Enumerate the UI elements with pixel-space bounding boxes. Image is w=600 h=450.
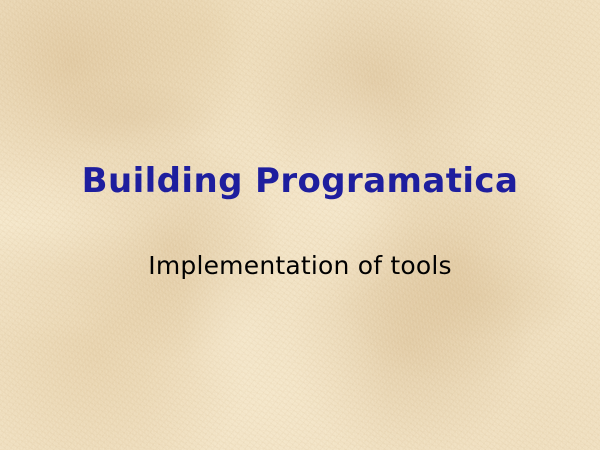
presentation-slide: Building Programatica Implementation of …: [0, 0, 600, 450]
slide-title: Building Programatica: [0, 162, 600, 201]
slide-subtitle: Implementation of tools: [0, 252, 600, 281]
slide-content: Building Programatica Implementation of …: [0, 0, 600, 450]
